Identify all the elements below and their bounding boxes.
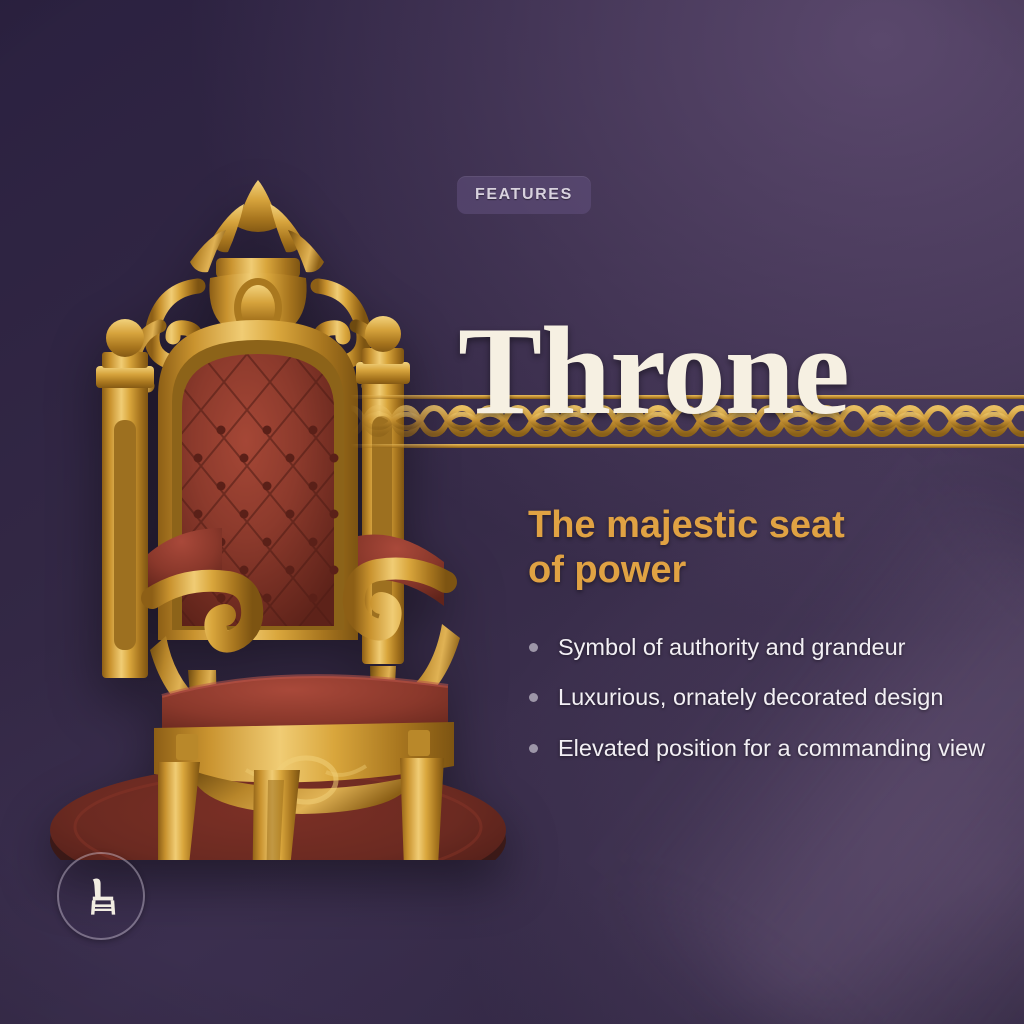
features-badge: FEATURES <box>457 176 591 214</box>
list-item-label: Symbol of authority and grandeur <box>558 634 906 660</box>
list-item-label: Elevated position for a commanding view <box>558 735 985 761</box>
category-badge <box>57 852 145 940</box>
throne-illustration <box>40 130 560 860</box>
subtitle: The majestic seat of power <box>528 503 958 593</box>
features-badge-label: FEATURES <box>475 186 573 204</box>
page-title: Throne <box>458 309 849 435</box>
subtitle-line-2: of power <box>528 548 958 593</box>
list-item: Symbol of authority and grandeur <box>524 632 1004 663</box>
list-item: Luxurious, ornately decorated design <box>524 682 1004 713</box>
bullet-dot-icon <box>529 744 538 753</box>
poster-canvas: FEATURES Throne The majestic seat of pow… <box>0 0 1024 1024</box>
list-item-label: Luxurious, ornately decorated design <box>558 684 943 710</box>
chair-icon <box>81 875 121 917</box>
list-item: Elevated position for a commanding view <box>524 733 1004 764</box>
bullet-dot-icon <box>529 693 538 702</box>
bullet-dot-icon <box>529 643 538 652</box>
subtitle-line-1: The majestic seat <box>528 503 958 548</box>
feature-list: Symbol of authority and grandeur Luxurio… <box>524 632 1004 783</box>
